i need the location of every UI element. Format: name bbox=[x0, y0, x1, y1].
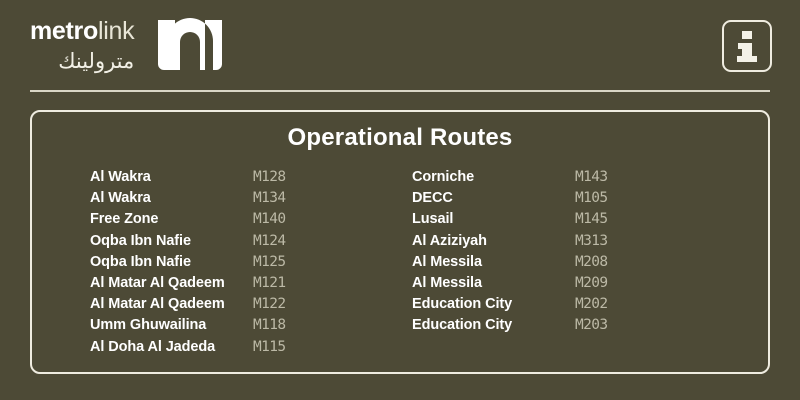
wordmark-arabic: مترولينك bbox=[58, 51, 134, 72]
route-name: Al Matar Al Qadeem bbox=[90, 296, 253, 312]
table-row[interactable]: Al Matar Al Qadeem M121 bbox=[90, 275, 412, 296]
route-name: Lusail bbox=[412, 211, 575, 227]
table-row[interactable]: Al Messila M208 bbox=[412, 254, 734, 275]
wordmark-latin: metrolink bbox=[30, 19, 134, 44]
routes-panel: Operational Routes Al Wakra M128 Al Wakr… bbox=[30, 110, 770, 374]
table-row[interactable]: DECC M105 bbox=[412, 190, 734, 211]
brand-logo[interactable]: metrolink مترولينك bbox=[30, 16, 224, 74]
route-code: M143 bbox=[575, 169, 608, 185]
wordmark-latin-strong: metro bbox=[30, 17, 98, 45]
table-row[interactable]: Al Doha Al Jadeda M115 bbox=[90, 339, 412, 360]
route-name: Al Messila bbox=[412, 275, 575, 291]
wordmark-latin-light: link bbox=[98, 17, 134, 45]
table-row[interactable]: Education City M202 bbox=[412, 296, 734, 317]
table-row[interactable]: Al Messila M209 bbox=[412, 275, 734, 296]
table-row[interactable]: Al Matar Al Qadeem M122 bbox=[90, 296, 412, 317]
info-icon[interactable] bbox=[722, 20, 772, 72]
route-code: M209 bbox=[575, 275, 608, 291]
table-row[interactable]: Education City M203 bbox=[412, 317, 734, 338]
wordmark: metrolink مترولينك bbox=[30, 19, 134, 72]
table-row[interactable]: Corniche M143 bbox=[412, 169, 734, 190]
route-code: M122 bbox=[253, 296, 286, 312]
info-icon-dot bbox=[742, 31, 752, 39]
route-code: M118 bbox=[253, 317, 286, 333]
header: metrolink مترولينك bbox=[0, 0, 800, 92]
route-name: Corniche bbox=[412, 169, 575, 185]
route-name: Al Messila bbox=[412, 254, 575, 270]
table-row[interactable]: Lusail M145 bbox=[412, 211, 734, 232]
info-icon-base bbox=[737, 56, 757, 62]
table-row[interactable]: Al Aziziyah M313 bbox=[412, 233, 734, 254]
route-code: M202 bbox=[575, 296, 608, 312]
route-code: M105 bbox=[575, 190, 608, 206]
table-row[interactable]: Al Wakra M128 bbox=[90, 169, 412, 190]
routes-columns: Al Wakra M128 Al Wakra M134 Free Zone M1… bbox=[32, 169, 768, 360]
route-code: M125 bbox=[253, 254, 286, 270]
route-name: Al Doha Al Jadeda bbox=[90, 339, 253, 355]
route-code: M313 bbox=[575, 233, 608, 249]
route-name: Al Matar Al Qadeem bbox=[90, 275, 253, 291]
route-name: Umm Ghuwailina bbox=[90, 317, 253, 333]
route-code: M145 bbox=[575, 211, 608, 227]
route-code: M128 bbox=[253, 169, 286, 185]
route-code: M134 bbox=[253, 190, 286, 206]
route-code: M208 bbox=[575, 254, 608, 270]
route-code: M121 bbox=[253, 275, 286, 291]
route-code: M115 bbox=[253, 339, 286, 355]
route-name: Al Wakra bbox=[90, 190, 253, 206]
route-name: Al Aziziyah bbox=[412, 233, 575, 249]
route-name: Free Zone bbox=[90, 211, 253, 227]
route-name: Al Wakra bbox=[90, 169, 253, 185]
route-name: DECC bbox=[412, 190, 575, 206]
table-row[interactable]: Oqba Ibn Nafie M124 bbox=[90, 233, 412, 254]
table-row[interactable]: Umm Ghuwailina M118 bbox=[90, 317, 412, 338]
route-code: M124 bbox=[253, 233, 286, 249]
route-name: Oqba Ibn Nafie bbox=[90, 254, 253, 270]
metrolink-m-logo-icon bbox=[156, 16, 224, 74]
route-name: Oqba Ibn Nafie bbox=[90, 233, 253, 249]
route-name: Education City bbox=[412, 317, 575, 333]
routes-column-left: Al Wakra M128 Al Wakra M134 Free Zone M1… bbox=[90, 169, 412, 360]
route-code: M203 bbox=[575, 317, 608, 333]
route-name: Education City bbox=[412, 296, 575, 312]
table-row[interactable]: Free Zone M140 bbox=[90, 211, 412, 232]
table-row[interactable]: Oqba Ibn Nafie M125 bbox=[90, 254, 412, 275]
route-code: M140 bbox=[253, 211, 286, 227]
page-title: Operational Routes bbox=[32, 124, 768, 152]
routes-column-right: Corniche M143 DECC M105 Lusail M145 Al A… bbox=[412, 169, 734, 360]
table-row[interactable]: Al Wakra M134 bbox=[90, 190, 412, 211]
header-divider bbox=[30, 90, 770, 92]
